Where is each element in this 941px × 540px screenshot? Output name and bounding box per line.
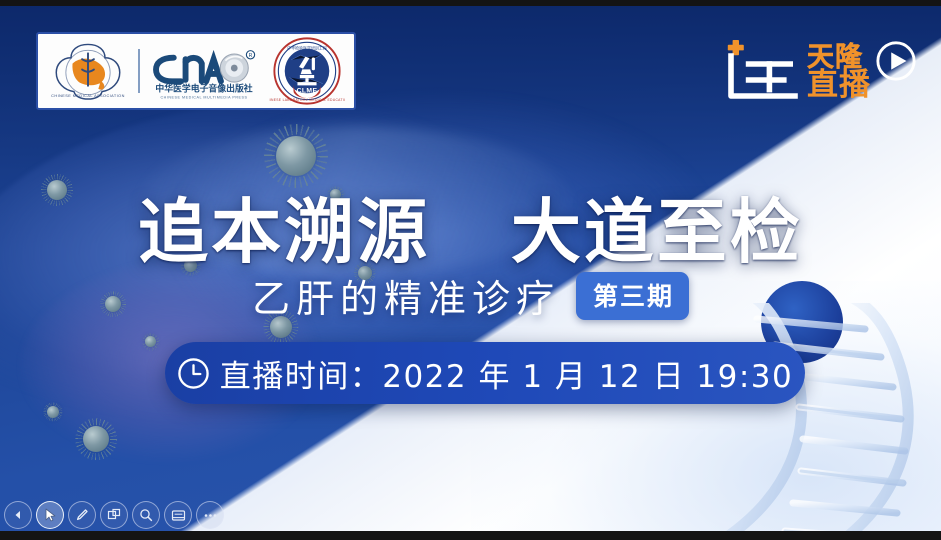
yi-plus-mark-icon xyxy=(721,40,805,104)
brand-logo: 天隆 直播 xyxy=(721,40,917,104)
chinese-medical-multimedia-press-logo-icon: R 中华医学电子音像出版社 CHINESE MEDICAL MULTIMEDIA… xyxy=(148,40,260,102)
svg-text:R: R xyxy=(249,53,253,59)
headline-part-2: 大道至检 xyxy=(511,191,803,273)
clme-logo-icon: CLME 中华检验医学培训工程 CHINESE LABORATORY MEDIC… xyxy=(269,36,345,106)
svg-text:CHINESE MEDICAL MULTIMEDIA PRE: CHINESE MEDICAL MULTIMEDIA PRESS xyxy=(161,95,248,99)
brand-line-1: 天隆 xyxy=(807,45,871,70)
window-icon xyxy=(171,509,186,522)
svg-text:CLME: CLME xyxy=(297,87,318,94)
more-options[interactable] xyxy=(196,501,224,529)
brand-text: 天隆 直播 xyxy=(807,45,871,99)
pen-icon xyxy=(75,508,89,522)
pen-tool[interactable] xyxy=(68,501,96,529)
snapshot-icon xyxy=(107,508,121,522)
more-dots-icon xyxy=(203,513,218,518)
dna-helix-icon xyxy=(697,303,941,531)
logo-bar: CHINESE MEDICAL ASSOCIATION xyxy=(36,32,356,110)
snapshot-tool[interactable] xyxy=(100,501,128,529)
letterbox-bottom-bar xyxy=(0,531,941,540)
svg-text:中华医学电子音像出版社: 中华医学电子音像出版社 xyxy=(156,83,253,95)
window-tool[interactable] xyxy=(164,501,192,529)
cursor-icon xyxy=(44,508,57,522)
poster-subtitle: 乙肝的精准诊疗 xyxy=(252,268,560,323)
headline-part-1: 追本溯源 xyxy=(138,191,430,273)
poster-subtitle-row: 乙肝的精准诊疗 第三期 xyxy=(0,268,941,323)
episode-badge: 第三期 xyxy=(576,272,689,320)
svg-text:CHINESE LABORATORY MEDICAL EDU: CHINESE LABORATORY MEDICAL EDUCATION xyxy=(269,98,345,102)
player-toolbar[interactable] xyxy=(0,499,224,531)
brand-line-2: 直播 xyxy=(807,71,871,100)
letterbox-top-bar xyxy=(0,0,941,6)
svg-text:中华检验医学培训工程: 中华检验医学培训工程 xyxy=(287,46,327,51)
livestream-time-text: 直播时间：2022 年 1 月 12 日 19:30 xyxy=(220,351,794,396)
poster-headline: 追本溯源 大道至检 xyxy=(0,176,941,277)
clock-icon xyxy=(177,357,210,390)
back-button[interactable] xyxy=(4,501,32,529)
magnifier-icon xyxy=(139,508,153,522)
logo-divider xyxy=(138,49,140,93)
video-player-screen: CHINESE MEDICAL ASSOCIATION xyxy=(0,0,941,540)
cursor-tool[interactable] xyxy=(36,501,64,529)
chinese-medical-association-logo-icon: CHINESE MEDICAL ASSOCIATION xyxy=(47,40,129,102)
livestream-poster: CHINESE MEDICAL ASSOCIATION xyxy=(0,6,941,531)
play-circle-icon xyxy=(875,40,917,82)
back-arrow-icon xyxy=(12,509,24,521)
livestream-time-banner: 直播时间：2022 年 1 月 12 日 19:30 xyxy=(165,342,805,404)
svg-text:CHINESE MEDICAL ASSOCIATION: CHINESE MEDICAL ASSOCIATION xyxy=(51,94,125,98)
zoom-tool[interactable] xyxy=(132,501,160,529)
